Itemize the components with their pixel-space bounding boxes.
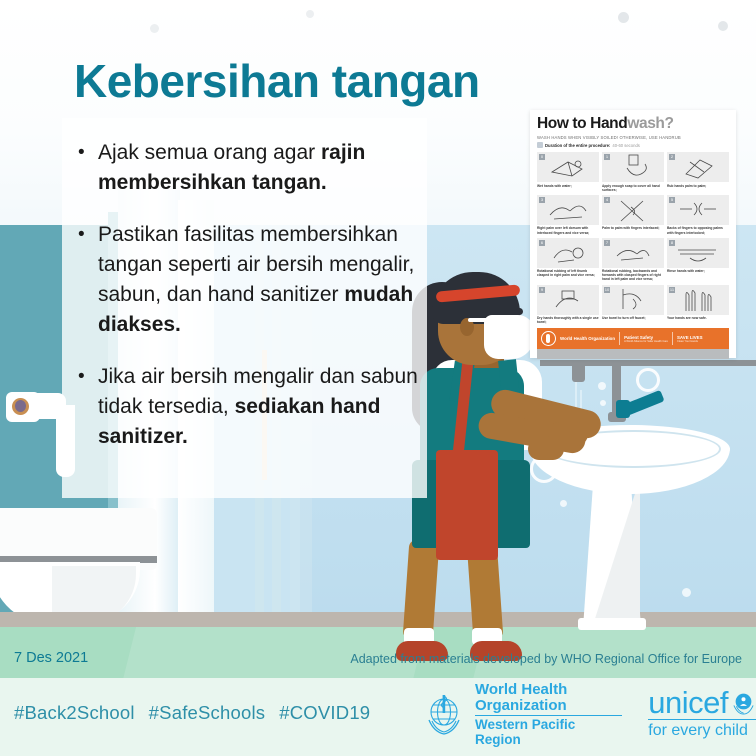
divider (619, 332, 620, 345)
handwash-step: 9 Dry hands thoroughly with a single use… (537, 285, 599, 325)
handwash-step-number: 10 (604, 287, 610, 293)
handwash-step-number: 2 (669, 154, 675, 160)
unicef-emblem-icon (731, 690, 756, 715)
handwash-bar-save-lives-sub: Clean Your Hands (677, 340, 703, 343)
handwash-step-number: 5 (669, 197, 675, 203)
handwash-step-caption: Rub hands palm to palm; (667, 184, 729, 188)
handwash-step-number: 0 (539, 154, 545, 160)
handwash-bar-patient-safety-sub: A World Alliance for Safer Health Care (624, 340, 668, 343)
decor-dot (306, 10, 314, 18)
bullet-list: • Ajak semua orang agar rajin membersihk… (72, 138, 422, 474)
hand-left (528, 438, 564, 460)
who-region: Western Pacific Region (475, 715, 622, 747)
shoulder-bag (436, 450, 498, 560)
handwash-steps-grid: 0 Wet hands with water; 1 Apply enough s… (537, 152, 729, 324)
handwash-step-number: 7 (604, 240, 610, 246)
infographic-poster: How to Handwash? WASH HANDS WHEN VISIBLY… (0, 0, 756, 756)
handwash-step-caption: Apply enough soap to cover all hand surf… (602, 184, 664, 192)
handwash-step: 6 Rotational rubbing of left thumb clasp… (537, 238, 599, 282)
handwash-step: 5 Backs of fingers to opposing palms wit… (667, 195, 729, 235)
list-item: • Pastikan fasilitas membersihkan tangan… (72, 220, 422, 340)
handwash-step-image: 0 (537, 152, 599, 182)
handwash-step-caption: Rotational rubbing, backwards and forwar… (602, 269, 664, 281)
logo-row: World Health Organization Western Pacifi… (420, 682, 756, 747)
faucet-handle-base[interactable] (616, 400, 630, 418)
handwash-poster-gray-band (537, 349, 729, 359)
bullet-text: Jika air bersih mengalir dan sabun tidak… (98, 362, 422, 452)
handwash-step-number: 3 (539, 197, 545, 203)
bullet-text-plain: Ajak semua orang agar (98, 141, 321, 164)
bullet-marker: • (72, 138, 98, 198)
handwash-step-number: 6 (539, 240, 545, 246)
handwash-step-caption: Backs of fingers to opposing palms with … (667, 226, 729, 234)
hashtag-safeschools[interactable]: #SafeSchools (149, 702, 266, 723)
list-item: • Jika air bersih mengalir dan sabun tid… (72, 362, 422, 452)
handwash-title-gray: wash? (627, 115, 673, 132)
decor-dot (718, 21, 728, 31)
handwash-duration-label: Duration of the entire procedure: (545, 143, 610, 148)
handwash-step-image: 10 (602, 285, 664, 315)
handwash-step-caption: Your hands are now safe. (667, 316, 729, 320)
water-bubble-small (682, 588, 691, 597)
handwash-duration-row: Duration of the entire procedure: 40-60 … (537, 142, 729, 148)
who-logo: World Health Organization Western Pacifi… (420, 682, 622, 747)
handwash-step-image: 9 (537, 285, 599, 315)
water-bubble-small (600, 400, 606, 406)
unicef-wordmark: unicef (648, 688, 728, 717)
handwash-step: 7 Rotational rubbing, backwards and forw… (602, 238, 664, 282)
toilet-paper-core-inner (15, 400, 26, 412)
handwash-step-number: 4 (604, 197, 610, 203)
handwash-poster-footer-bar: World Health Organization Patient Safety… (537, 328, 729, 349)
handwash-step: 3 Right palm over left dorsum with inter… (537, 195, 599, 235)
bullet-text: Pastikan fasilitas membersihkan tangan s… (98, 220, 422, 340)
water-bubble-small (598, 382, 606, 390)
bullet-marker: • (72, 220, 98, 340)
handwash-step-number: 8 (669, 240, 675, 246)
handwash-step-caption: Use towel to turn off faucet; (602, 316, 664, 320)
page-title: Kebersihan tangan (74, 54, 480, 108)
who-wordmark: World Health Organization Western Pacifi… (475, 682, 622, 747)
who-line-2: Organization (475, 698, 622, 714)
handwash-bar-org: World Health Organization (560, 336, 615, 341)
handwash-step-caption: Rotational rubbing of left thumb clasped… (537, 269, 599, 277)
who-emblem-icon (420, 690, 468, 738)
eye-right (516, 308, 523, 315)
handwash-step-number: 11 (669, 287, 675, 293)
who-line-1: World Health (475, 682, 622, 698)
handwash-step: 0 Wet hands with water; (537, 152, 599, 192)
faucet-spout (572, 360, 585, 382)
hashtag-back2school[interactable]: #Back2School (14, 702, 135, 723)
water-bubble (636, 368, 660, 392)
handwash-step: 2 Rub hands palm to palm; (667, 152, 729, 192)
handwash-step-caption: Palm to palm with fingers interlaced; (602, 226, 664, 230)
face-mask (484, 315, 534, 359)
unicef-tagline: for every child (648, 719, 756, 740)
handwash-step-image: 4 (602, 195, 664, 225)
handwash-poster-title: How to Handwash? (537, 116, 729, 132)
handwash-step: 11 Your hands are now safe. (667, 285, 729, 325)
handwash-step: 10 Use towel to turn off faucet; (602, 285, 664, 325)
handwash-step-caption: Rinse hands with water; (667, 269, 729, 273)
handwash-step: 1 Apply enough soap to cover all hand su… (602, 152, 664, 192)
decor-dot (618, 12, 629, 23)
handwash-step: 4 Palm to palm with fingers interlaced; (602, 195, 664, 235)
credit-label: Adapted from materials developed by WHO … (350, 652, 742, 666)
handwash-step-image: 8 (667, 238, 729, 268)
who-emblem-icon (541, 331, 556, 346)
unicef-logo: unicef for every child (648, 688, 756, 740)
handwash-step-number: 1 (604, 154, 610, 160)
bullet-text: Ajak semua orang agar rajin membersihkan… (98, 138, 422, 198)
hashtag-covid19[interactable]: #COVID19 (279, 702, 370, 723)
sink-pedestal-base (578, 618, 646, 630)
handwash-title-black: How to Hand (537, 115, 627, 132)
handwash-step-image: 1 (602, 152, 664, 182)
decor-dot (150, 24, 159, 33)
handwash-step-image: 3 (537, 195, 599, 225)
handwash-step-caption: Wet hands with water; (537, 184, 599, 188)
handwash-duration-value: 40-60 seconds (612, 143, 639, 148)
handwash-step-image: 11 (667, 285, 729, 315)
handwash-step: 8 Rinse hands with water; (667, 238, 729, 282)
handwash-step-image: 7 (602, 238, 664, 268)
handwash-step-image: 2 (667, 152, 729, 182)
clock-icon (537, 142, 543, 148)
handwash-step-number: 9 (539, 287, 545, 293)
handwash-step-image: 6 (537, 238, 599, 268)
divider (672, 332, 673, 345)
bullet-marker: • (72, 362, 98, 452)
date-label: 7 Des 2021 (14, 650, 88, 666)
handwash-step-caption: Right palm over left dorsum with interla… (537, 226, 599, 234)
water-bubble-small (560, 500, 567, 507)
list-item: • Ajak semua orang agar rajin membersihk… (72, 138, 422, 198)
how-to-handwash-poster: How to Handwash? WASH HANDS WHEN VISIBLY… (530, 110, 736, 358)
handwash-step-image: 5 (667, 195, 729, 225)
handwash-step-caption: Dry hands thoroughly with a single use t… (537, 316, 599, 324)
handwash-poster-subtitle: WASH HANDS WHEN VISIBLY SOILED! OTHERWIS… (537, 135, 729, 140)
hashtag-list: #Back2School#SafeSchools#COVID19 (14, 702, 384, 724)
